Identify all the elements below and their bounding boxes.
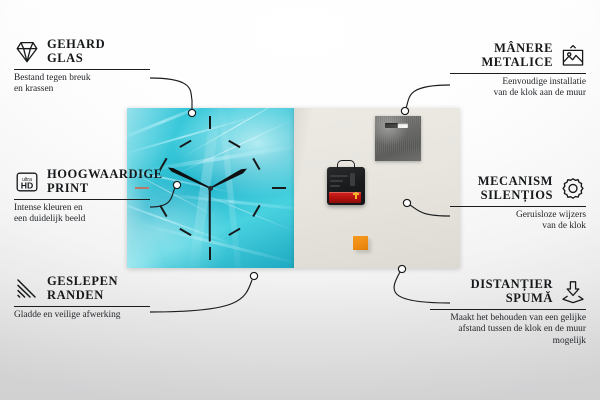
feature-distantier-spuma: DISTANȚIER SPUMĂ Maakt het behouden van …	[430, 278, 586, 347]
title-rule	[430, 309, 586, 310]
wire-endpoint-manere-metalice	[401, 107, 408, 114]
title-rule	[14, 69, 150, 70]
wire-endpoint-mecanism-silentios	[403, 199, 410, 206]
feature-subtitle: Intense kleuren en een duidelijk beeld	[14, 203, 150, 226]
title-rule	[450, 73, 586, 74]
feature-title: MÂNERE METALICE	[481, 42, 553, 69]
feature-geslepen-randen: GESLEPEN RANDEN Gladde en veilige afwerk…	[14, 275, 150, 321]
feature-subtitle: Gladde en veilige afwerking	[14, 310, 150, 321]
title-rule	[450, 206, 586, 207]
infographic-canvas: GEHARD GLAS Bestand tegen breuk en krass…	[0, 0, 600, 400]
feature-title: GEHARD GLAS	[47, 38, 105, 65]
wire-gehard-glas	[150, 78, 192, 110]
feature-gehard-glas: GEHARD GLAS Bestand tegen breuk en krass…	[14, 38, 150, 96]
diamond-icon	[14, 39, 40, 65]
picture-hanger-icon	[560, 43, 586, 69]
svg-text:HD: HD	[21, 180, 33, 190]
feature-subtitle: Bestand tegen breuk en krassen	[14, 73, 150, 96]
feature-title: DISTANȚIER SPUMĂ	[471, 278, 553, 305]
wire-mecanism-silentios	[410, 205, 450, 216]
wire-endpoint-distantier-spuma	[398, 265, 405, 272]
feature-subtitle: Eenvoudige installatie van de klok aan d…	[450, 77, 586, 100]
title-rule	[14, 306, 150, 307]
wire-endpoint-hoogwaardige-print	[173, 181, 180, 188]
feature-mecanism-silentios: MECANISM SILENȚIOS Geruisloze wijzers va…	[450, 175, 586, 233]
wire-geslepen-randen	[150, 280, 252, 312]
feature-manere-metalice: MÂNERE METALICE Eenvoudige installatie v…	[450, 42, 586, 100]
feature-subtitle: Maakt het behouden van een gelijke afsta…	[430, 313, 586, 347]
gear-icon	[560, 176, 586, 202]
feature-title: HOOGWAARDIGE PRINT	[47, 168, 163, 195]
feature-subtitle: Geruisloze wijzers van de klok	[450, 210, 586, 233]
wire-manere-metalice	[406, 85, 450, 108]
title-rule	[14, 199, 150, 200]
ultra-hd-icon: ultra HD	[14, 169, 40, 195]
feature-title: MECANISM SILENȚIOS	[478, 175, 553, 202]
wire-endpoint-gehard-glas	[188, 109, 195, 116]
beveled-edge-icon	[14, 276, 40, 302]
foam-spacer-icon	[560, 279, 586, 305]
feature-title: GESLEPEN RANDEN	[47, 275, 118, 302]
wire-endpoint-geslepen-randen	[250, 272, 257, 279]
feature-hoogwaardige-print: ultra HD HOOGWAARDIGE PRINT Intense kleu…	[14, 168, 150, 226]
